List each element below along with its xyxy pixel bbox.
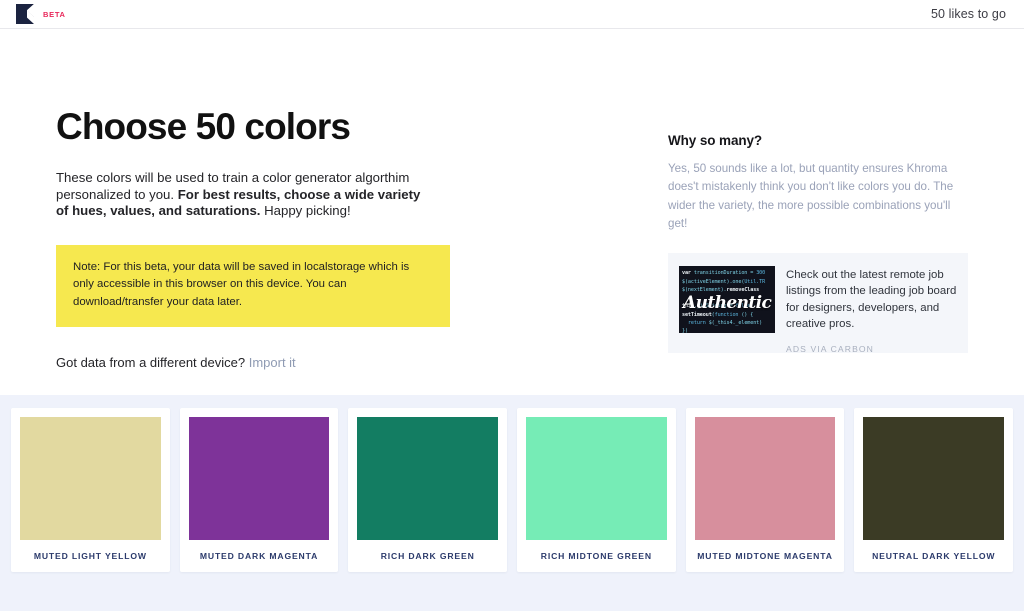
swatch-label: RICH DARK GREEN	[381, 550, 475, 562]
ad-thumbnail[interactable]: var transitionDuration = 300 $(activeEle…	[679, 266, 775, 333]
brand[interactable]: BETA	[16, 4, 66, 24]
intro-column: Choose 50 colors These colors will be us…	[56, 107, 466, 370]
swatch-color-block[interactable]	[526, 417, 667, 540]
ad-brand-script: Authentic	[683, 293, 771, 313]
swatch-card[interactable]: MUTED MIDTONE MAGENTA	[686, 408, 845, 572]
page-title: Choose 50 colors	[56, 107, 466, 148]
likes-to-go-counter: 50 likes to go	[931, 7, 1006, 21]
main-content: Choose 50 colors These colors will be us…	[0, 29, 1024, 395]
swatch-label: RICH MIDTONE GREEN	[541, 550, 652, 562]
swatch-card[interactable]: MUTED LIGHT YELLOW	[11, 408, 170, 572]
ad-attribution[interactable]: ADS VIA CARBON	[786, 344, 968, 354]
swatch-card[interactable]: RICH MIDTONE GREEN	[517, 408, 676, 572]
swatch-card[interactable]: NEUTRAL DARK YELLOW	[854, 408, 1013, 572]
import-prompt-text: Got data from a different device?	[56, 355, 245, 370]
info-column: Why so many? Yes, 50 sounds like a lot, …	[668, 133, 968, 353]
ad-body: Check out the latest remote job listings…	[786, 266, 968, 354]
top-bar: BETA 50 likes to go	[0, 0, 1024, 29]
swatch-label: MUTED DARK MAGENTA	[200, 550, 318, 562]
import-it-link[interactable]: Import it	[249, 355, 296, 370]
swatch-card[interactable]: MUTED DARK MAGENTA	[180, 408, 339, 572]
swatch-color-block[interactable]	[20, 417, 161, 540]
why-so-many-body: Yes, 50 sounds like a lot, but quantity …	[668, 160, 960, 233]
beta-badge: BETA	[43, 10, 66, 19]
intro-text-part2: Happy picking!	[260, 203, 350, 218]
localstorage-note: Note: For this beta, your data will be s…	[56, 245, 450, 326]
swatch-label: NEUTRAL DARK YELLOW	[872, 550, 995, 562]
swatch-label: MUTED MIDTONE MAGENTA	[697, 550, 832, 562]
ad-copy[interactable]: Check out the latest remote job listings…	[786, 267, 968, 332]
color-swatch-strip: MUTED LIGHT YELLOW MUTED DARK MAGENTA RI…	[0, 395, 1024, 611]
import-prompt-row: Got data from a different device? Import…	[56, 355, 466, 370]
swatch-color-block[interactable]	[189, 417, 330, 540]
swatch-color-block[interactable]	[357, 417, 498, 540]
carbon-ad[interactable]: var transitionDuration = 300 $(activeEle…	[668, 253, 968, 353]
swatch-color-block[interactable]	[863, 417, 1004, 540]
swatch-color-block[interactable]	[695, 417, 836, 540]
intro-paragraph: These colors will be used to train a col…	[56, 170, 428, 221]
swatch-label: MUTED LIGHT YELLOW	[34, 550, 147, 562]
swatch-card[interactable]: RICH DARK GREEN	[348, 408, 507, 572]
why-so-many-heading: Why so many?	[668, 133, 968, 148]
khroma-k-logo-icon[interactable]	[16, 4, 34, 24]
